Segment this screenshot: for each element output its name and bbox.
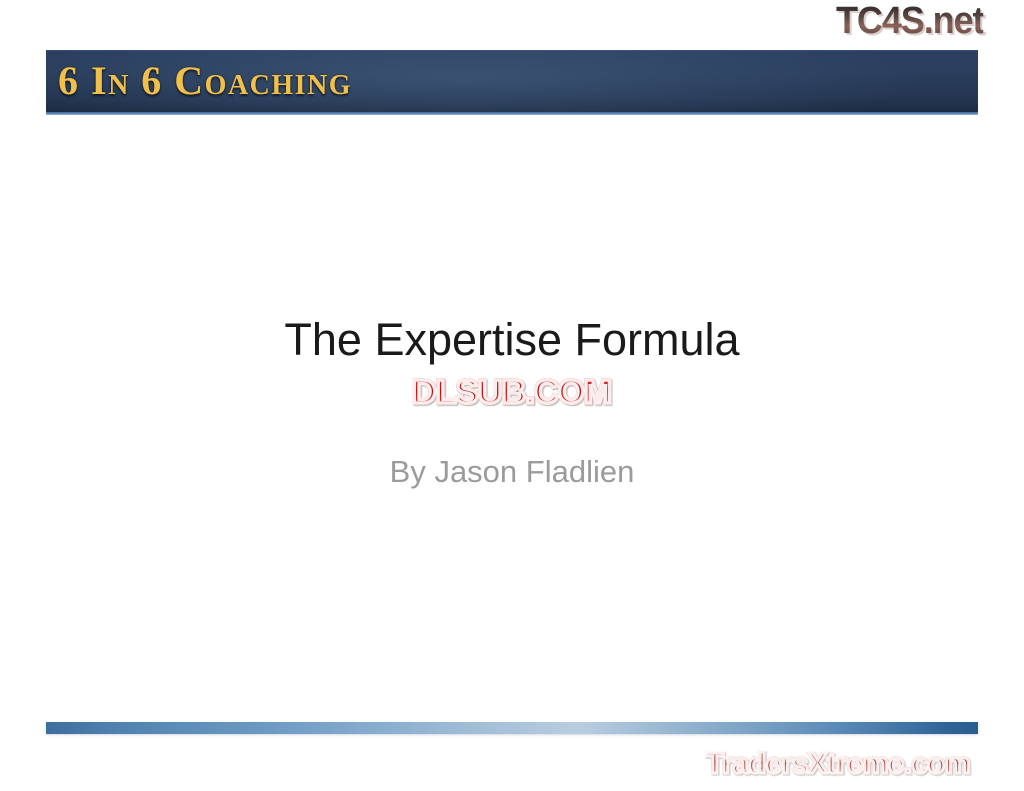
watermark-bottom-right-text: TradersXtreme.com [706,748,970,781]
slide-subtitle-author: By Jason Fladlien [0,452,1024,492]
header-banner-title: 6 In 6 Coaching [58,56,352,106]
footer-accent-bar [46,722,978,734]
header-banner-underline [46,112,978,115]
watermark-center-text: DLSUB.COM [412,373,611,411]
watermark-top-right: TC4S.net [836,1,983,41]
presentation-slide: TC4S.net TC4S.net 6 In 6 Coaching The Ex… [0,0,1024,791]
slide-title: The Expertise Formula [0,312,1024,368]
watermark-bottom-right: TradersXtreme.com [706,748,970,781]
watermark-center: DLSUB.COM [0,373,1024,411]
